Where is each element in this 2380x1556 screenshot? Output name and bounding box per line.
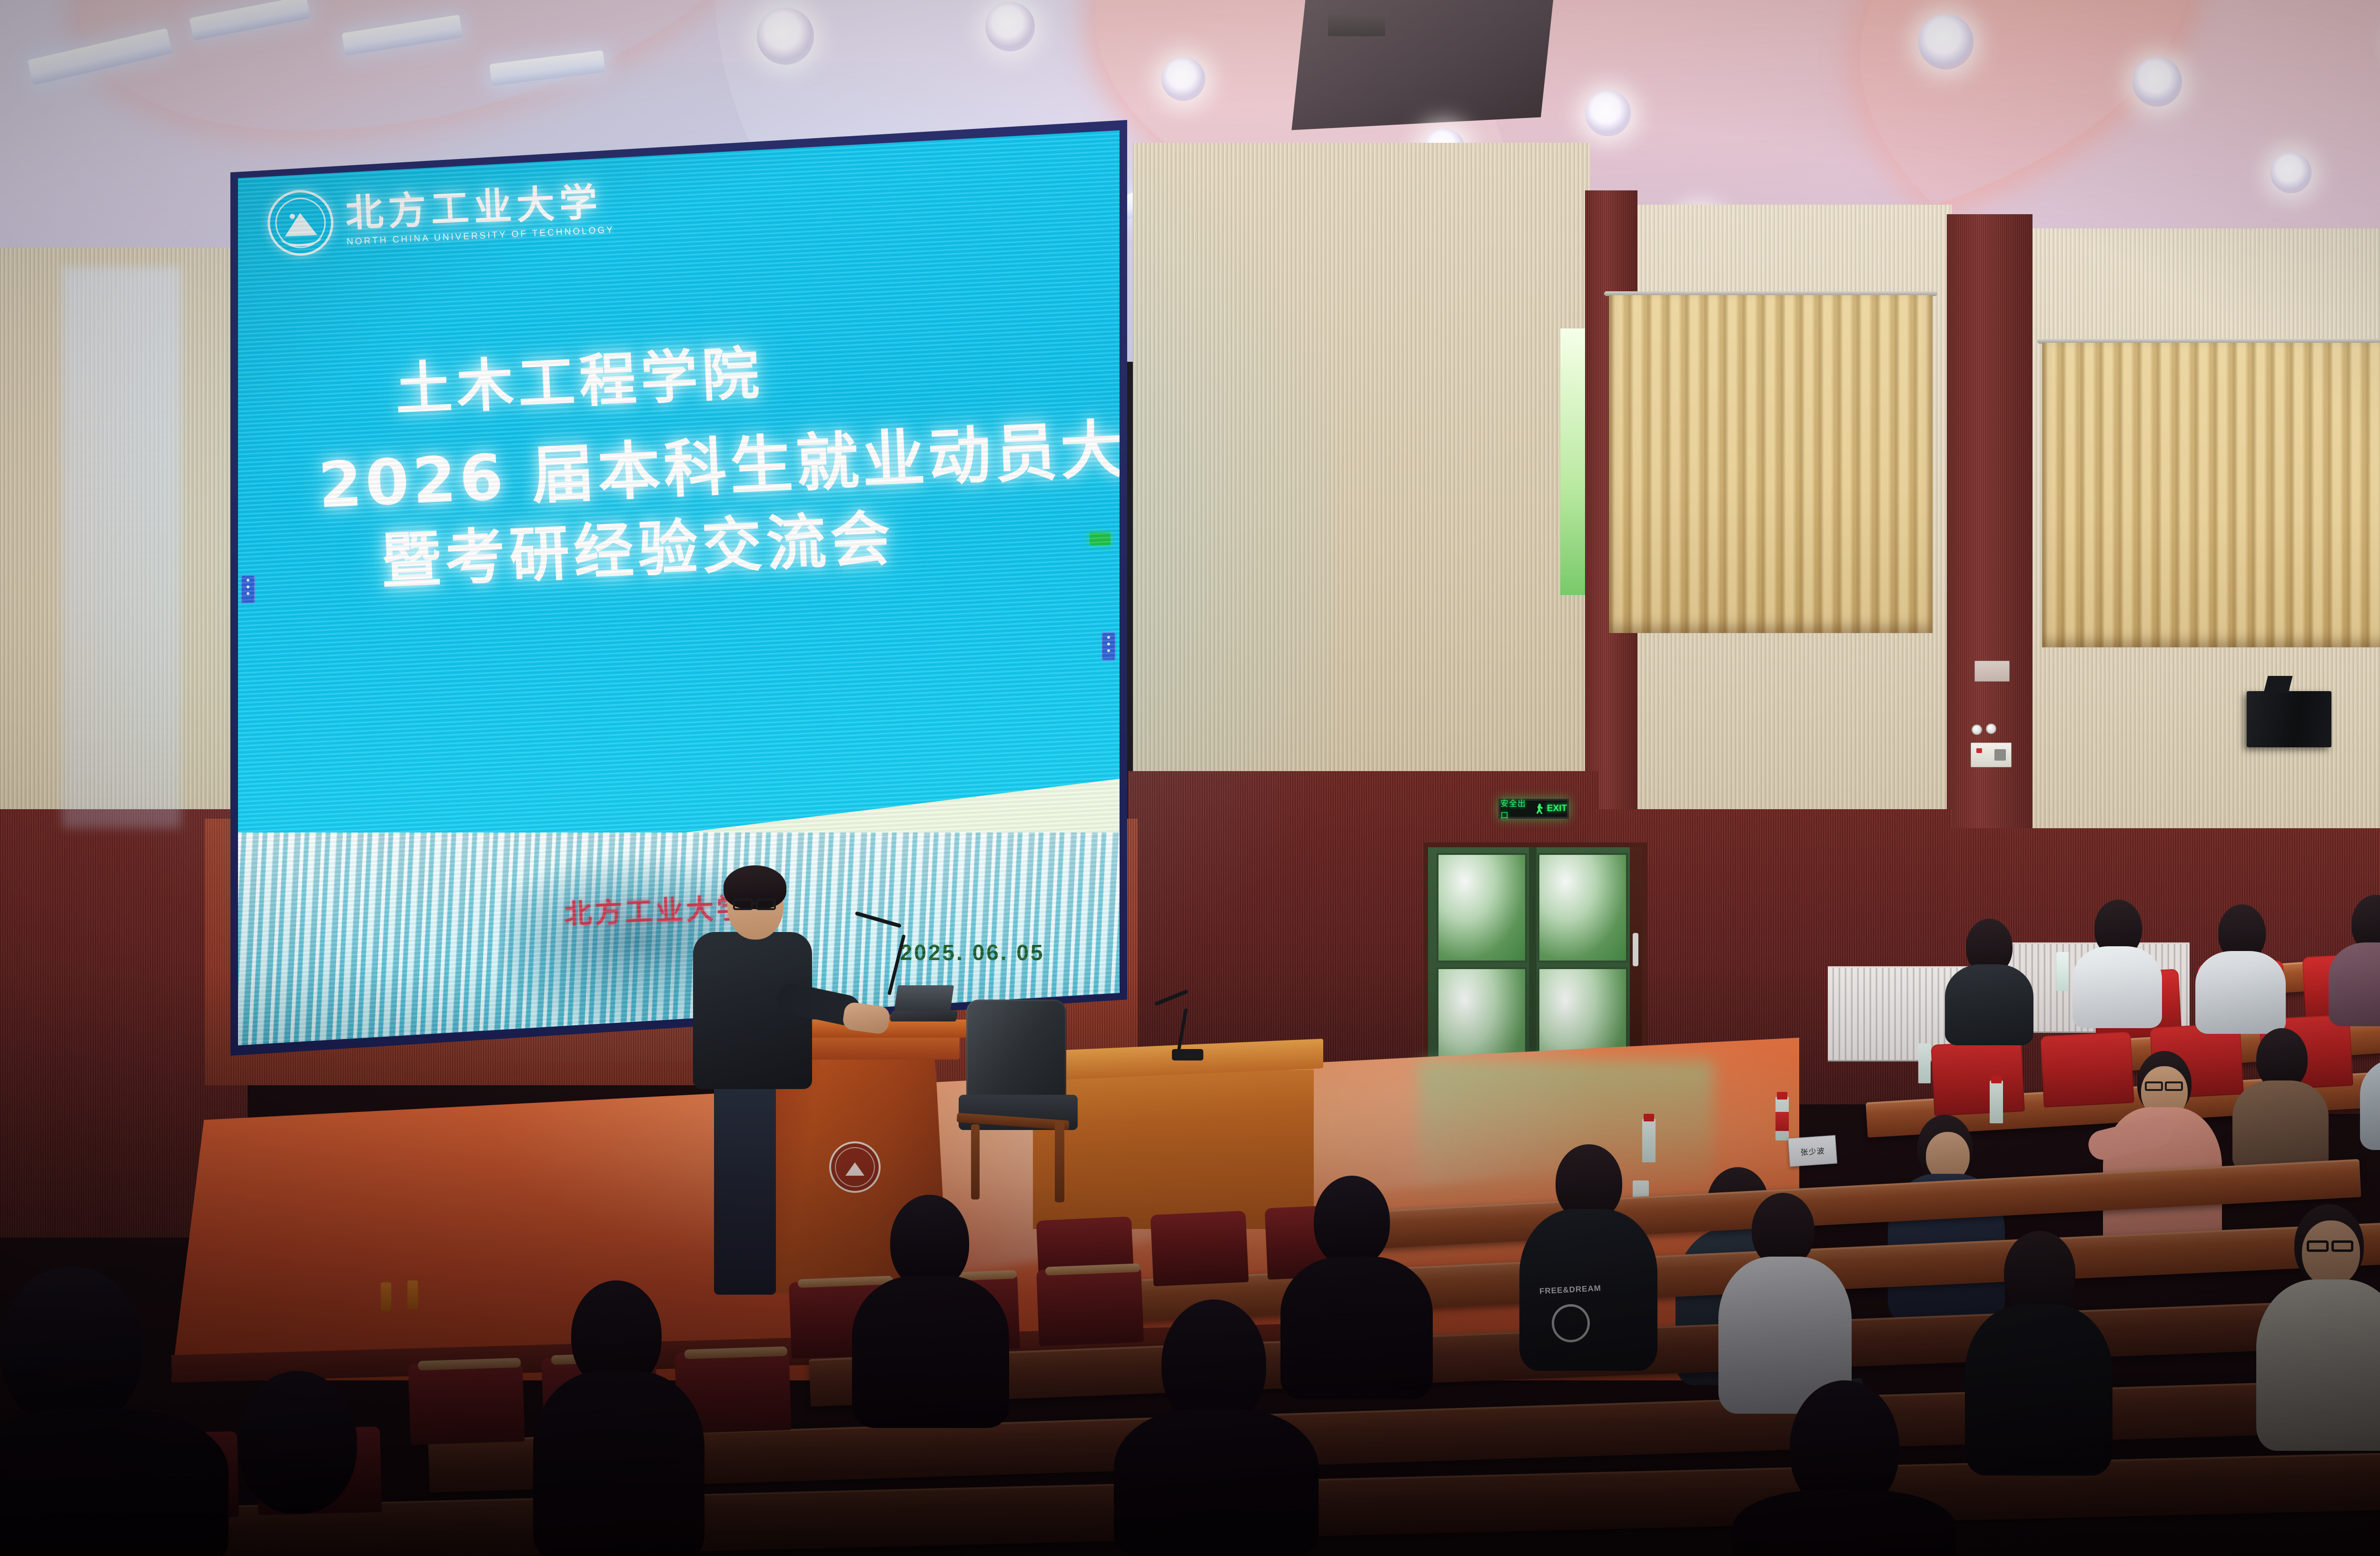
microphone-base	[1172, 1049, 1203, 1060]
downlight	[757, 8, 814, 65]
seat[interactable]	[1036, 1266, 1144, 1346]
leather-chair-icon	[957, 1000, 1100, 1209]
foreground-torso	[1114, 1409, 1319, 1556]
screen-title-line-1: 土木工程学院	[394, 343, 764, 422]
screen-brand-logo: 北方工业大学 NORTH CHINA UNIVERSITY OF TECHNOL…	[266, 176, 615, 258]
exit-sign-label-cn: 安全出口	[1500, 797, 1533, 821]
curtain	[2042, 343, 2380, 647]
ncut-seal-icon	[266, 188, 335, 257]
foreground-torso	[1733, 1490, 1956, 1556]
audience-torso	[2329, 942, 2380, 1026]
seat[interactable]	[1931, 1040, 2025, 1116]
downlight	[1918, 14, 1973, 69]
bottle-cap	[1777, 1092, 1787, 1100]
speaker-glasses-bridge	[752, 902, 758, 904]
water-bottle[interactable]	[2056, 952, 2069, 991]
speaker-glasses	[733, 899, 753, 910]
speaker-glasses	[756, 899, 776, 910]
led-screen[interactable]: 北方工业大学 NORTH CHINA UNIVERSITY OF TECHNOL…	[238, 128, 1120, 1048]
audience-torso	[1965, 1304, 2112, 1476]
foreground-torso	[852, 1276, 1009, 1428]
bottle-cap	[1644, 1114, 1654, 1121]
emergency-light-icon	[1972, 724, 2010, 743]
audience-glasses	[2145, 1081, 2163, 1091]
curtain	[1609, 295, 1933, 633]
door-pane	[1537, 853, 1628, 962]
seat[interactable]	[408, 1360, 525, 1445]
pa-speaker-icon	[2247, 691, 2331, 747]
exit-sign: 安全出口 EXIT	[1498, 799, 1569, 819]
speaker-legs	[714, 1066, 776, 1295]
downlight	[1161, 57, 1205, 101]
nameplate-label: 张少波	[1800, 1144, 1825, 1158]
basketball-graphic-icon	[1552, 1304, 1590, 1342]
projector-icon	[1328, 14, 1385, 36]
indicator-light	[1976, 748, 1982, 753]
back-wall-upper	[1133, 143, 1590, 781]
audience-torso	[1945, 964, 2033, 1045]
water-bottle[interactable]	[1990, 1080, 2003, 1123]
downlight	[1585, 90, 1631, 136]
foreground-torso	[0, 1409, 228, 1556]
door-handle[interactable]	[1633, 933, 1638, 966]
foreground-torso	[533, 1371, 704, 1556]
photo-calligraphy-text: 北方工业大学	[564, 885, 748, 932]
screen-title-line-3: 暨考研经验交流会	[379, 506, 896, 595]
wall-screen-glow	[62, 267, 181, 828]
foreground-head	[238, 1371, 357, 1514]
screen-brand-name-cn: 北方工业大学	[345, 182, 614, 232]
window-slit	[1560, 328, 1585, 595]
downlight	[2132, 57, 2182, 107]
screen-right-tab[interactable]	[1101, 632, 1116, 661]
seat[interactable]	[1150, 1211, 1249, 1287]
audience-glasses	[2165, 1081, 2183, 1091]
downlight	[985, 2, 1035, 51]
audience-torso	[2195, 951, 2286, 1034]
door-pane	[1437, 853, 1527, 962]
audience-glasses	[2331, 1240, 2353, 1252]
seat[interactable]	[2040, 1031, 2134, 1108]
foreground-head	[0, 1266, 143, 1428]
exit-sign-label-en: EXIT	[1547, 803, 1567, 814]
orange-bottle[interactable]	[407, 1280, 418, 1309]
bottle-label	[1775, 1112, 1789, 1131]
audience-torso	[2256, 1279, 2380, 1451]
water-bottle[interactable]	[1918, 1043, 1931, 1083]
screen-status-tab	[1090, 533, 1111, 545]
running-man-icon	[1536, 803, 1544, 814]
screen-title-line-2: 2026 届本科生就业动员大会	[317, 412, 1120, 520]
ncut-seal-icon	[829, 1141, 881, 1193]
audience-head	[1752, 1193, 1815, 1267]
audience-head	[2004, 1231, 2075, 1315]
screen-left-tab[interactable]	[241, 575, 255, 604]
water-bottle[interactable]	[1642, 1119, 1656, 1162]
laptop-icon[interactable]	[894, 985, 954, 1013]
pa-speaker-bracket	[2264, 676, 2293, 693]
foreground-torso	[1280, 1257, 1433, 1399]
orange-bottle[interactable]	[381, 1282, 391, 1311]
audience-glasses	[2307, 1240, 2329, 1252]
downlight	[2271, 152, 2311, 193]
foreground-head	[1314, 1176, 1390, 1267]
wall-socket	[1994, 749, 2006, 761]
led-screen-frame: 北方工业大学 NORTH CHINA UNIVERSITY OF TECHNOL…	[230, 120, 1127, 1056]
audience-face	[2302, 1220, 2360, 1286]
laptop-base	[890, 1011, 958, 1021]
screen-date: 2025. 06. 05	[900, 940, 1045, 965]
nameplate: 张少波	[1788, 1135, 1837, 1167]
audience-torso	[2073, 946, 2162, 1028]
lecture-hall-photo: 安全出口 EXIT 北方工业大学 NORTH CHINA UNI	[0, 0, 2380, 1556]
wall-plate	[1974, 661, 2010, 682]
audience-torso	[2232, 1080, 2329, 1171]
bottle-cap	[1991, 1076, 2002, 1083]
